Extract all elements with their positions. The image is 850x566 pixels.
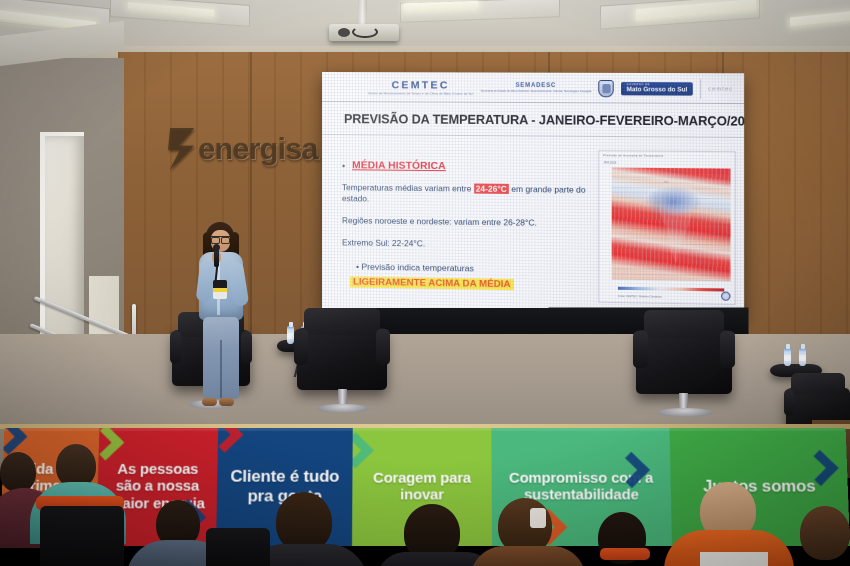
auditorium-scene: energisa CEMTEC Centro de Monitoramento … [0,0,850,566]
paragraph-3: Extremo Sul: 22-24°C. [342,237,598,252]
armchair[interactable] [297,328,387,390]
map-image [612,168,731,282]
projector-cable [352,26,378,38]
bullet-lead-label: MÉDIA HISTÓRICA [352,160,446,172]
armchair-arm-right [720,331,734,368]
paragraph-2: Regiões noroeste e nordeste: variam entr… [342,215,598,229]
government-line-2: Mato Grosso do Sul [627,87,688,94]
semadesc-logo: SEMADESC Secretaria de Estado de Meio Am… [481,83,592,94]
state-coat-of-arms-icon [599,80,615,97]
cemtec-title: CEMTEC [368,80,473,91]
audience-document [700,552,768,566]
eyeglasses-icon [211,236,230,241]
energisa-wall-logo: energisa [168,128,318,170]
audience-head [276,492,332,552]
armchair-arm-left [294,329,308,365]
map-agency-badge-icon [721,291,730,300]
audience-head [800,506,850,560]
speaker-shoe-left [202,398,217,406]
presentation-slide: CEMTEC Centro de Monitoramento de Tempo … [322,72,744,320]
auditorium-seat[interactable] [206,528,270,566]
projector-mount-pole [358,0,367,26]
energisa-mark-icon [168,128,194,170]
armchair-backrest [644,310,725,338]
auditorium-seat[interactable] [40,506,124,566]
audience-head [0,452,36,492]
government-logo: GOVERNO DE Mato Grosso do Sul [621,82,692,96]
water-bottle[interactable] [287,326,294,344]
bullet-media-historica: • MÉDIA HISTÓRICA [342,160,598,173]
header-rule [322,134,744,138]
speaker-presenter [186,222,256,422]
slide-header: CEMTEC Centro de Monitoramento de Tempo … [322,72,744,104]
ceiling-light [790,10,850,26]
armchair-base [317,404,369,413]
armchair-arm-left [170,331,182,363]
cemtec-logo: CEMTEC Centro de Monitoramento de Tempo … [368,80,473,95]
audience-shoulders [470,546,586,566]
microphone-icon [214,248,219,267]
map-caption-sub: JFM 2026 [603,160,616,164]
bullet-dot-icon: • [356,261,359,271]
jeans-seam [220,340,222,398]
seat-trim [600,548,650,560]
armchair-arm-right [376,329,390,365]
header-divider [700,79,701,98]
energisa-wordmark: energisa [198,131,318,167]
temperature-anomaly-map: Previsão de Anomalia de Temperatura JFM … [598,150,736,305]
hair-clip-icon [530,508,546,528]
slide-body: • MÉDIA HISTÓRICA Temperaturas médias va… [342,160,598,293]
conclusion-line-1: • Previsão indica temperaturas [342,261,598,275]
secondary-mark: cemtec [708,86,733,92]
panel-label: Coragem para inovar [352,470,491,504]
armchair-backrest [304,308,380,335]
water-bottle[interactable] [799,348,806,366]
armchair[interactable] [636,330,732,394]
bullet-dot-icon: • [342,160,345,171]
armchair-base [657,408,713,417]
paragraph-1: Temperaturas médias variam entre 24-26°C… [342,182,598,207]
paragraph-1-before: Temperaturas médias variam entre [342,182,471,193]
map-caption-top: Previsão de Anomalia de Temperatura [603,153,663,158]
semadesc-subtitle: Secretaria de Estado de Meio Ambiente, D… [481,90,592,93]
south-america-outline [654,181,702,267]
map-footer-text: Fonte: CEMTEC / Modelos Climáticos [618,295,662,299]
slide-title: PREVISÃO DA TEMPERATURA - JANEIRO-FEVERE… [344,112,729,128]
map-colorbar [618,286,724,291]
water-bottle[interactable] [784,348,791,366]
armchair-arm-left [784,389,794,416]
speaker-shoe-right [219,398,234,406]
conclusion-text-1: Previsão indica temperaturas [361,261,473,273]
conclusion-line-2: LIGEIRAMENTE ACIMA DA MÉDIA [350,276,514,290]
projection-screen: CEMTEC Centro de Monitoramento de Tempo … [322,72,744,320]
slide-conclusion: • Previsão indica temperaturas LIGEIRAME… [342,261,598,293]
name-badge [213,280,227,299]
armchair-backrest [791,373,845,393]
projector-lens-icon [338,28,350,37]
cemtec-subtitle: Centro de Monitoramento de Tempo e do Cl… [368,92,473,95]
temperature-range-highlight: 24-26°C [474,183,509,193]
armchair-arm-left [633,331,647,368]
